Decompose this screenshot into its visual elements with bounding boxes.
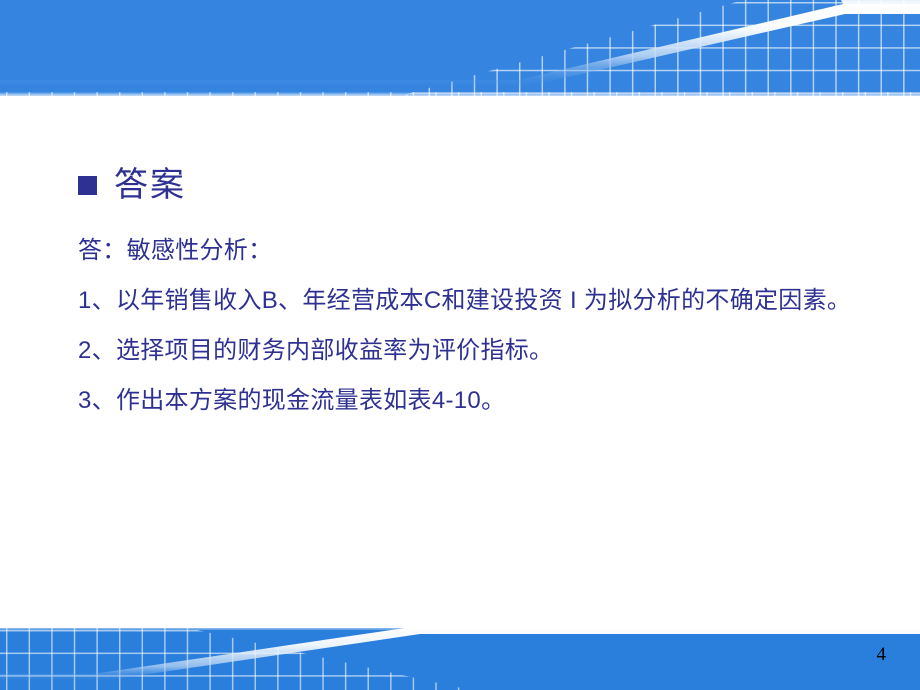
bottom-decorative-banner — [0, 620, 920, 690]
square-bullet-icon — [78, 176, 97, 195]
slide-title: 答案 — [78, 168, 186, 204]
bottom-banner-topline-glow — [0, 620, 920, 630]
top-banner-diagonal-sweep — [0, 0, 920, 104]
body-text-block: 答：敏感性分析： 1、以年销售收入B、年经营成本C和建设投资 I 为拟分析的不确… — [78, 239, 878, 439]
body-line-4: 3、作出本方案的现金流量表如表4-10。 — [78, 389, 878, 413]
top-banner-underline-glow — [0, 92, 920, 104]
body-line-1: 答：敏感性分析： — [78, 239, 878, 263]
page-title: 答案 — [114, 168, 186, 204]
body-line-3: 2、选择项目的财务内部收益率为评价指标。 — [78, 339, 878, 363]
top-decorative-banner — [0, 0, 920, 104]
bottom-banner-diagonal-sweep — [0, 620, 920, 690]
slide-canvas: 答案 答：敏感性分析： 1、以年销售收入B、年经营成本C和建设投资 I 为拟分析… — [0, 0, 920, 690]
body-line-2: 1、以年销售收入B、年经营成本C和建设投资 I 为拟分析的不确定因素。 — [78, 289, 878, 313]
slide-number: 4 — [877, 645, 887, 664]
slide-content: 答案 答：敏感性分析： 1、以年销售收入B、年经营成本C和建设投资 I 为拟分析… — [0, 104, 920, 620]
